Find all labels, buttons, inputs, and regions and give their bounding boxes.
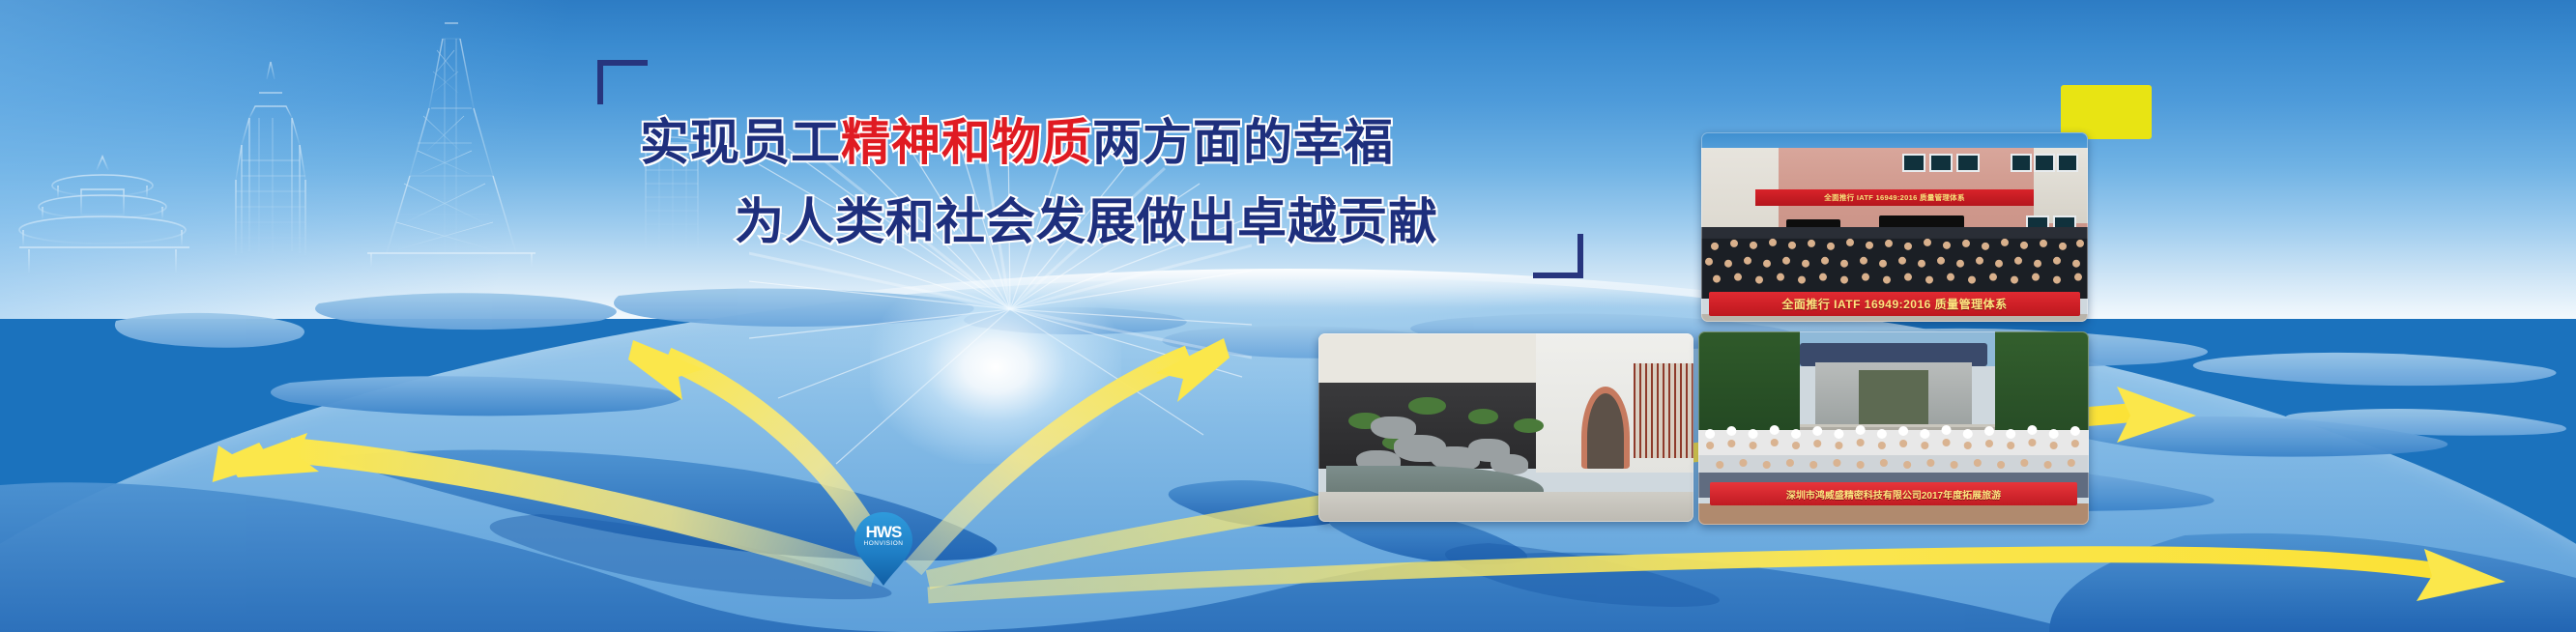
photo-courtyard-garden[interactable] [1318, 333, 1693, 522]
factory-top-banner: 全面推行 IATF 16949:2016 质量管理体系 [1755, 189, 2034, 207]
slogan-seg-1a: 实现员工 [640, 115, 841, 172]
jinmao-tower-icon [230, 62, 311, 255]
slogan-block: 实现员工精神和物质两方面的幸福 为人类和社会发展做出卓越贡献 [597, 60, 1583, 273]
yellow-accent-box [2061, 85, 2152, 139]
bracket-bottom-right [1533, 234, 1583, 278]
factory-crowd [1701, 227, 2088, 299]
map-pin-icon [854, 510, 913, 588]
slogan-line-1: 实现员工精神和物质两方面的幸福 [640, 102, 1394, 174]
photo-factory-group[interactable]: 全面推行 IATF 16949:2016 质量管理体系 [1701, 132, 2088, 322]
slogan-seg-1c: 两方面的幸福 [1092, 115, 1394, 172]
world-landmasses [0, 276, 2576, 632]
photo-factory-content: 全面推行 IATF 16949:2016 质量管理体系 [1701, 132, 2088, 322]
photo-company-outing[interactable]: 深圳市鸿威盛精密科技有限公司2017年度拓展旅游 [1698, 331, 2089, 525]
factory-bottom-banner-text: 全面推行 IATF 16949:2016 质量管理体系 [1781, 296, 2007, 312]
factory-bottom-banner: 全面推行 IATF 16949:2016 质量管理体系 [1709, 292, 2080, 316]
eiffel-tower-icon [367, 8, 535, 267]
temple-of-heaven-icon [19, 157, 189, 273]
outing-banner-text: 深圳市鸿威盛精密科技有限公司2017年度拓展旅游 [1786, 487, 2001, 502]
photo-outing-content: 深圳市鸿威盛精密科技有限公司2017年度拓展旅游 [1698, 331, 2089, 525]
bracket-top-left [597, 60, 648, 104]
photo-courtyard-content [1318, 333, 1693, 522]
outing-banner: 深圳市鸿威盛精密科技有限公司2017年度拓展旅游 [1710, 482, 2077, 505]
company-culture-banner: HWS HONVISION 实现员工精神和物质两方面的幸福 为人类和社会发展做出… [0, 0, 2576, 632]
slogan-seg-2a: 为人类和社会发展做出卓越贡献 [735, 194, 1438, 251]
slogan-line-2: 为人类和社会发展做出卓越贡献 [735, 182, 1438, 253]
hws-location-pin[interactable]: HWS HONVISION [854, 510, 913, 588]
factory-top-banner-text: 全面推行 IATF 16949:2016 质量管理体系 [1824, 192, 1965, 203]
slogan-seg-1b: 精神和物质 [841, 115, 1092, 172]
